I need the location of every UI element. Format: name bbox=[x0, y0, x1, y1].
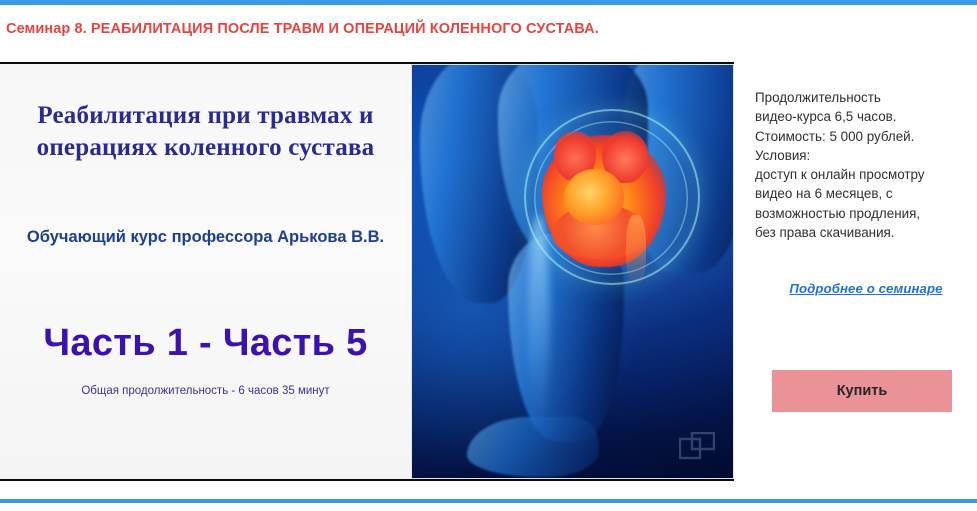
image-placeholder-icon bbox=[679, 432, 715, 460]
course-description: Продолжительность видео-курса 6,5 часов.… bbox=[755, 88, 977, 242]
slide-text-panel: Реабилитация при травмах и операциях кол… bbox=[0, 64, 411, 479]
course-info-panel: Продолжительность видео-курса 6,5 часов.… bbox=[755, 88, 977, 296]
page-root: Семинар 8. РЕАБИЛИТАЦИЯ ПОСЛЕ ТРАВМ И ОП… bbox=[0, 0, 977, 511]
slide-subtitle: Обучающий курс профессора Арькова В.В. bbox=[0, 226, 411, 248]
patella-shape bbox=[564, 169, 624, 225]
buy-button[interactable]: Купить bbox=[772, 370, 952, 412]
course-slide-card[interactable]: Реабилитация при травмах и операциях кол… bbox=[0, 62, 734, 481]
slide-title: Реабилитация при травмах и операциях кол… bbox=[0, 100, 411, 163]
foot-shape bbox=[467, 417, 599, 477]
top-accent-rule bbox=[0, 0, 977, 5]
page-title: Семинар 8. РЕАБИЛИТАЦИЯ ПОСЛЕ ТРАВМ И ОП… bbox=[6, 21, 599, 37]
fibula-shape bbox=[626, 215, 646, 285]
slide-inner: Реабилитация при травмах и операциях кол… bbox=[0, 64, 734, 479]
seminar-details-link[interactable]: Подробнее о семинаре bbox=[755, 281, 977, 296]
knee-anatomy-photo bbox=[411, 64, 734, 479]
slide-parts-range: Часть 1 - Часть 5 bbox=[0, 322, 411, 365]
bottom-accent-rule bbox=[0, 499, 977, 503]
slide-total-duration: Общая продолжительность - 6 часов 35 мин… bbox=[0, 385, 411, 397]
